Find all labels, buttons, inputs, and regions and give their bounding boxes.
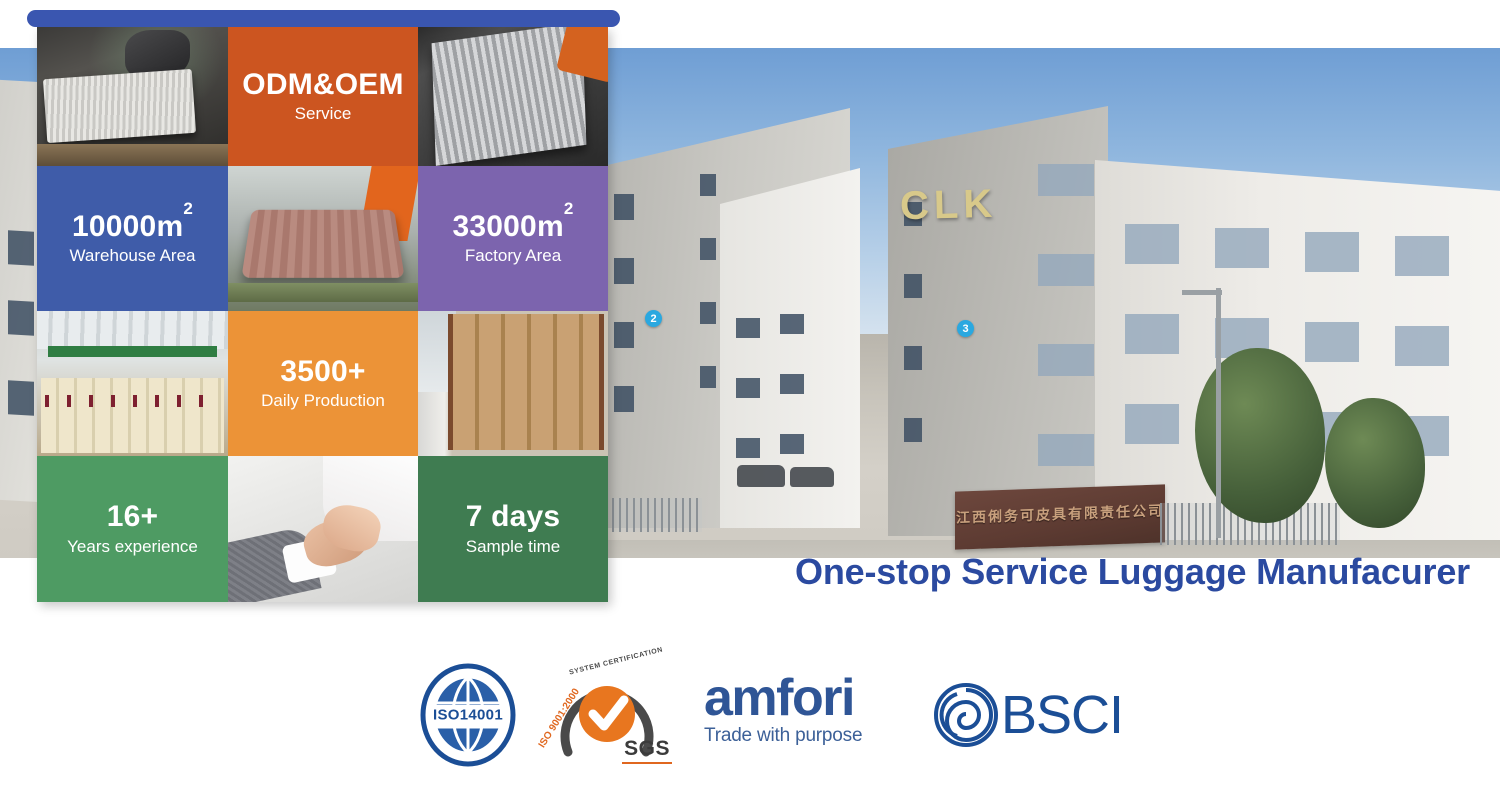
factory-name-wall-sign: 江西俐务可皮具有限责任公司 — [955, 484, 1165, 549]
daily-production-value: 3500+ — [234, 355, 412, 389]
clk-building — [888, 106, 1108, 536]
cell-sample-time: 7 days Sample time — [418, 456, 608, 602]
cell-daily-production: 3500+ Daily Production — [228, 311, 418, 456]
amfori-logo: amfori Trade with purpose — [704, 675, 899, 755]
luggage-shell-shape — [241, 210, 404, 278]
parked-car-2 — [790, 467, 834, 487]
page-headline: One-stop Service Luggage Manufacurer — [725, 551, 1470, 593]
factory-area-value: 33000m2 — [424, 210, 602, 244]
cell-years-experience: 16+ Years experience — [37, 456, 228, 602]
cell-mold-workshop-photo — [37, 27, 228, 166]
stacked-goods-shape — [41, 378, 224, 453]
parked-car-1 — [737, 465, 785, 487]
photo-marker-2[interactable]: 2 — [645, 310, 662, 327]
bsci-spiral-icon — [933, 682, 999, 748]
sample-time-value: 7 days — [424, 500, 602, 534]
top-accent-bar — [27, 10, 620, 27]
sgs-logo: SYSTEM CERTIFICATION ISO 9001:2000 SGS — [550, 660, 670, 770]
carton-stack-shape — [448, 314, 604, 450]
fence-left — [612, 498, 702, 532]
cell-factory-area: 33000m2 Factory Area — [418, 166, 608, 311]
daily-production-label: Daily Production — [234, 390, 412, 412]
clk-building-sign: CLK — [899, 182, 997, 230]
photo-marker-3[interactable]: 3 — [957, 320, 974, 337]
conveyor-rail-shape — [228, 283, 418, 302]
green-awning-shape — [48, 346, 216, 358]
iso14001-logo: ISO14001 — [420, 663, 516, 767]
cell-warehouse-area: 10000m2 Warehouse Area — [37, 166, 228, 311]
sample-time-label: Sample time — [424, 536, 602, 558]
feature-grid: ODM&OEM Service 10000m2 Warehouse Area 3… — [37, 27, 608, 602]
warehouse-area-label: Warehouse Area — [43, 245, 222, 267]
cell-aluminium-mold-photo — [418, 27, 608, 166]
years-experience-value: 16+ — [43, 500, 222, 534]
odm-oem-title: ODM&OEM — [234, 68, 412, 102]
amfori-tagline: Trade with purpose — [704, 725, 899, 747]
street-light-arm — [1182, 290, 1222, 295]
years-experience-label: Years experience — [43, 536, 222, 558]
cell-odm-oem: ODM&OEM Service — [228, 27, 418, 166]
factory-roof-shape — [37, 311, 228, 349]
amfori-wordmark: amfori — [704, 675, 899, 723]
goods-accents-shape — [45, 395, 221, 407]
warehouse-area-value: 10000m2 — [43, 210, 222, 244]
certification-logo-row: ISO14001 SYSTEM CERTIFICATION ISO 9001:2… — [420, 655, 1100, 775]
cell-handshake-photo — [228, 456, 418, 602]
sgs-brand-label: SGS — [622, 737, 672, 764]
cell-luggage-shell-photo — [228, 166, 418, 311]
cell-loaded-container-photo — [418, 311, 608, 456]
factory-name-text: 江西俐务可皮具有限责任公司 — [955, 500, 1165, 527]
iso14001-label: ISO14001 — [420, 707, 516, 724]
bsci-wordmark: BSCI — [1001, 688, 1123, 742]
street-light-pole — [1216, 288, 1221, 538]
mold-slab-shape — [43, 69, 196, 143]
workbench-shape — [37, 144, 228, 166]
odm-oem-subtitle: Service — [234, 103, 412, 125]
cell-production-floor-photo — [37, 311, 228, 456]
bsci-logo: BSCI — [933, 682, 1123, 748]
factory-area-label: Factory Area — [424, 245, 602, 267]
